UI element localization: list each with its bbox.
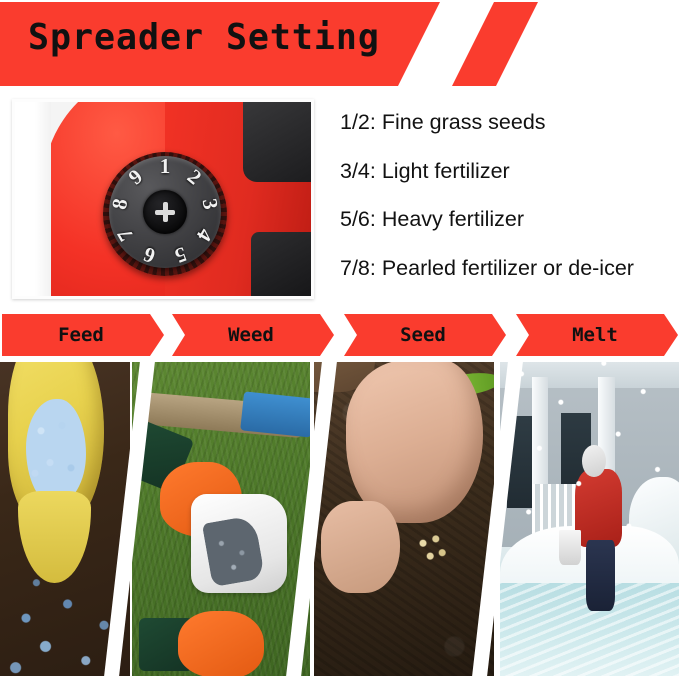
setting-row-2: 3/4: Light fertilizer	[340, 159, 675, 184]
category-photo-strip	[0, 362, 679, 676]
spreader-dark-panel-bottom	[251, 232, 311, 296]
blue-fertilizer-granules	[26, 399, 86, 505]
header-banner: Spreader Setting	[0, 0, 679, 90]
photo-melt-content	[500, 362, 679, 676]
header-accent-stripe	[452, 2, 538, 86]
dial-knurled-ring: 1 2 3 4 5 6 7 8 9	[103, 152, 227, 276]
dial-photo-inner: 1 2 3 4 5 6 7 8 9	[15, 102, 311, 296]
page-title: Spreader Setting	[28, 17, 380, 58]
photo-melt	[500, 362, 679, 676]
photo-seed-content	[314, 362, 494, 676]
ribbon-seed: Seed	[344, 314, 506, 356]
rake-head	[241, 391, 310, 437]
ribbon-label-melt: Melt	[516, 314, 678, 356]
ribbon-melt: Melt	[516, 314, 678, 356]
setting-row-3: 5/6: Heavy fertilizer	[340, 207, 675, 232]
ribbon-label-feed: Feed	[2, 314, 164, 356]
photo-white-edge	[15, 102, 51, 296]
orange-glove-lower	[178, 611, 263, 676]
spreader-dial-photo: 1 2 3 4 5 6 7 8 9	[12, 99, 314, 299]
ribbon-label-seed: Seed	[344, 314, 506, 356]
seeds-in-palm	[411, 526, 451, 568]
spreader-settings-list: 1/2: Fine grass seeds 3/4: Light fertili…	[340, 110, 675, 305]
ribbon-label-weed: Weed	[172, 314, 334, 356]
falling-snowflakes	[500, 362, 679, 676]
ribbon-weed: Weed	[172, 314, 334, 356]
dial-center-screw	[143, 190, 187, 234]
photo-seed	[314, 362, 494, 676]
spreader-setting-infographic: Spreader Setting 1 2 3 4 5 6 7 8 9	[0, 0, 679, 676]
bare-hand-upper	[346, 362, 483, 523]
setting-row-4: 7/8: Pearled fertilizer or de-icer	[340, 256, 675, 281]
photo-weed-content	[132, 362, 310, 676]
ribbon-feed: Feed	[2, 314, 164, 356]
photo-weed	[132, 362, 310, 676]
spreader-dark-panel-top	[243, 102, 311, 182]
dial-face: 1 2 3 4 5 6 7 8 9	[109, 156, 221, 268]
category-ribbon-row: Feed Weed Seed Melt	[0, 314, 679, 356]
bare-hand-lower	[321, 501, 400, 593]
setting-row-1: 1/2: Fine grass seeds	[340, 110, 675, 135]
